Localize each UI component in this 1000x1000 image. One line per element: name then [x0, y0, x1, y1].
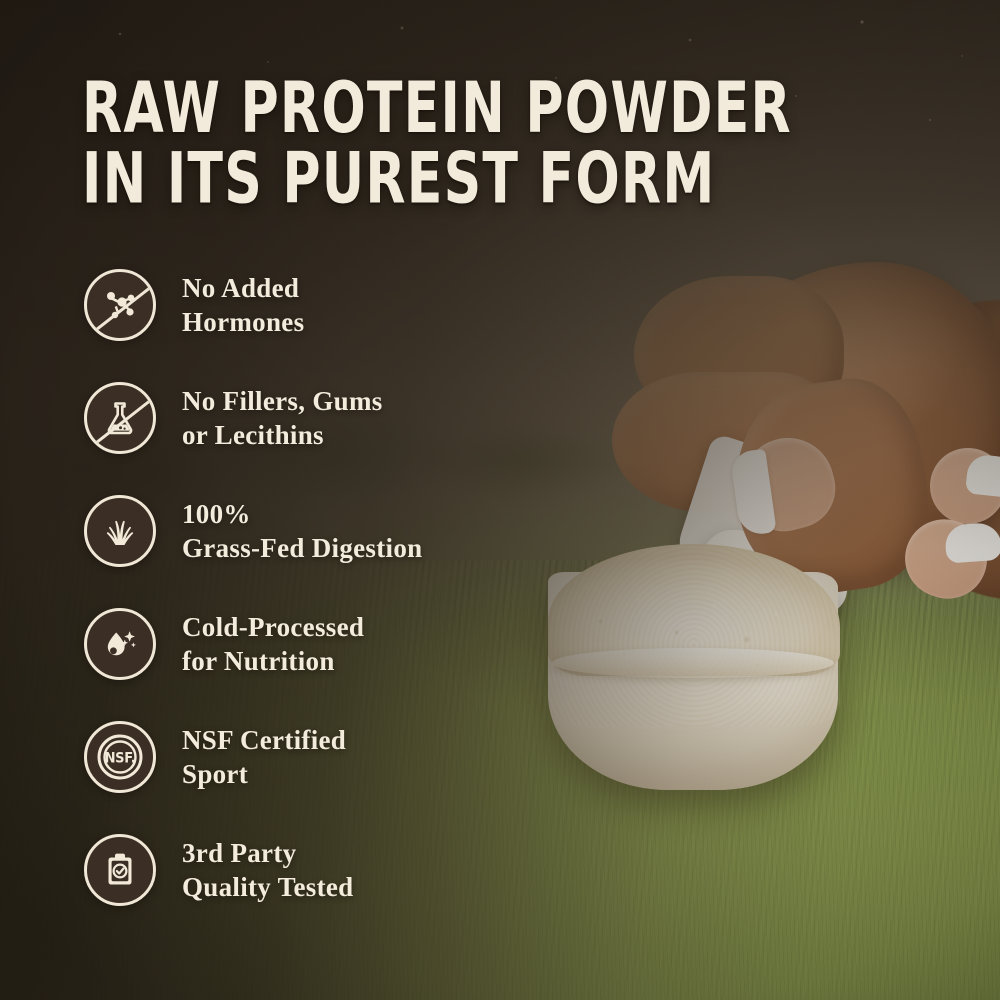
list-item: 3rd Party Quality Tested — [84, 821, 604, 919]
list-item: NSF. NSF Certified Sport — [84, 708, 604, 806]
list-item-label: 3rd Party Quality Tested — [182, 836, 354, 904]
feature-list: No Added Hormones No Fillers, Gums or Le… — [84, 256, 604, 934]
molecule-icon — [84, 269, 156, 341]
droplet-sparkle-icon — [84, 608, 156, 680]
page-title: RAW PROTEIN POWDER IN ITS PUREST FORM — [82, 72, 922, 214]
flask-icon — [84, 382, 156, 454]
clipboard-check-icon — [84, 834, 156, 906]
list-item: No Fillers, Gums or Lecithins — [84, 369, 604, 467]
nsf-certified-icon: NSF. — [84, 721, 156, 793]
list-item-label: NSF Certified Sport — [182, 723, 346, 791]
grass-icon — [84, 495, 156, 567]
nsf-badge-text: NSF. — [105, 751, 136, 767]
product-infographic: RAW PROTEIN POWDER IN ITS PUREST FORM — [0, 0, 1000, 1000]
list-item: Cold-Processed for Nutrition — [84, 595, 604, 693]
list-item-label: No Added Hormones — [182, 271, 304, 339]
list-item-label: No Fillers, Gums or Lecithins — [182, 384, 383, 452]
list-item-label: 100% Grass-Fed Digestion — [182, 497, 422, 565]
list-item-label: Cold-Processed for Nutrition — [182, 610, 364, 678]
list-item: No Added Hormones — [84, 256, 604, 354]
list-item: 100% Grass-Fed Digestion — [84, 482, 604, 580]
